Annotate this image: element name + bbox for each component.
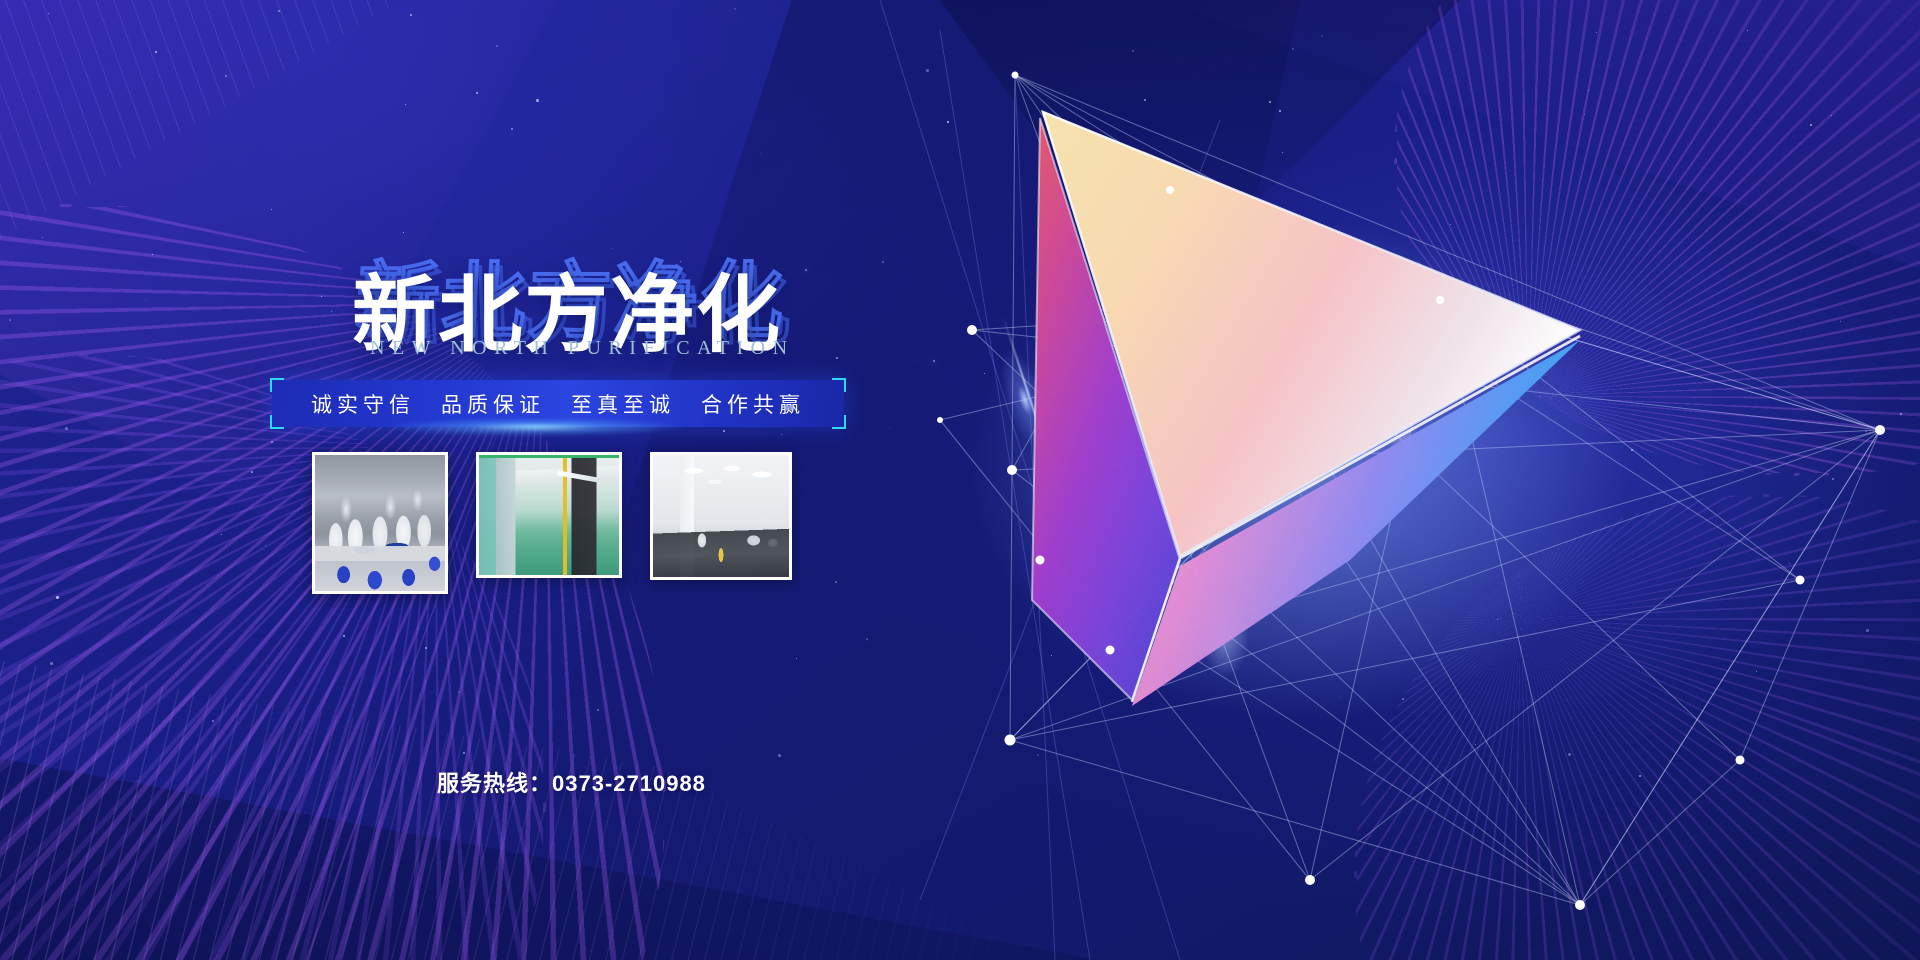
slogan-bar-glow xyxy=(385,418,685,436)
photo-image xyxy=(479,455,619,575)
prism-arrow-icon xyxy=(970,112,1630,720)
wireframe-prism-graphic xyxy=(880,0,1920,960)
photo-frame xyxy=(315,455,445,591)
slogan-item-2: 品质保证 xyxy=(441,389,545,419)
slogan-item-3: 至真至诚 xyxy=(571,389,675,419)
photo-laboratory-room[interactable] xyxy=(650,452,792,580)
service-hotline: 服务热线：0373-2710988 xyxy=(437,766,706,798)
photo-cleanroom-assembly-line[interactable] xyxy=(312,452,448,594)
photo-image xyxy=(653,455,789,577)
photo-printing-machinery-workshop[interactable] xyxy=(476,452,622,578)
banner-content: 新北方净化 新北方净化 新北方净化 NEW NORTH PURIFICATION… xyxy=(0,0,1000,960)
slogan-item-1: 诚实守信 xyxy=(311,389,415,419)
slogan-bar: 诚实守信 品质保证 至真至诚 合作共赢 xyxy=(272,380,844,427)
photo-top-accent xyxy=(479,455,619,458)
photo-gallery xyxy=(312,452,792,594)
photo-image xyxy=(315,455,445,591)
slogan-item-4: 合作共赢 xyxy=(701,389,805,419)
brand-subtitle: NEW NORTH PURIFICATION xyxy=(370,337,795,360)
promo-banner: 新北方净化 新北方净化 新北方净化 NEW NORTH PURIFICATION… xyxy=(0,0,1920,960)
ceiling-lamp-icon xyxy=(557,471,599,483)
photo-frame xyxy=(653,455,789,577)
